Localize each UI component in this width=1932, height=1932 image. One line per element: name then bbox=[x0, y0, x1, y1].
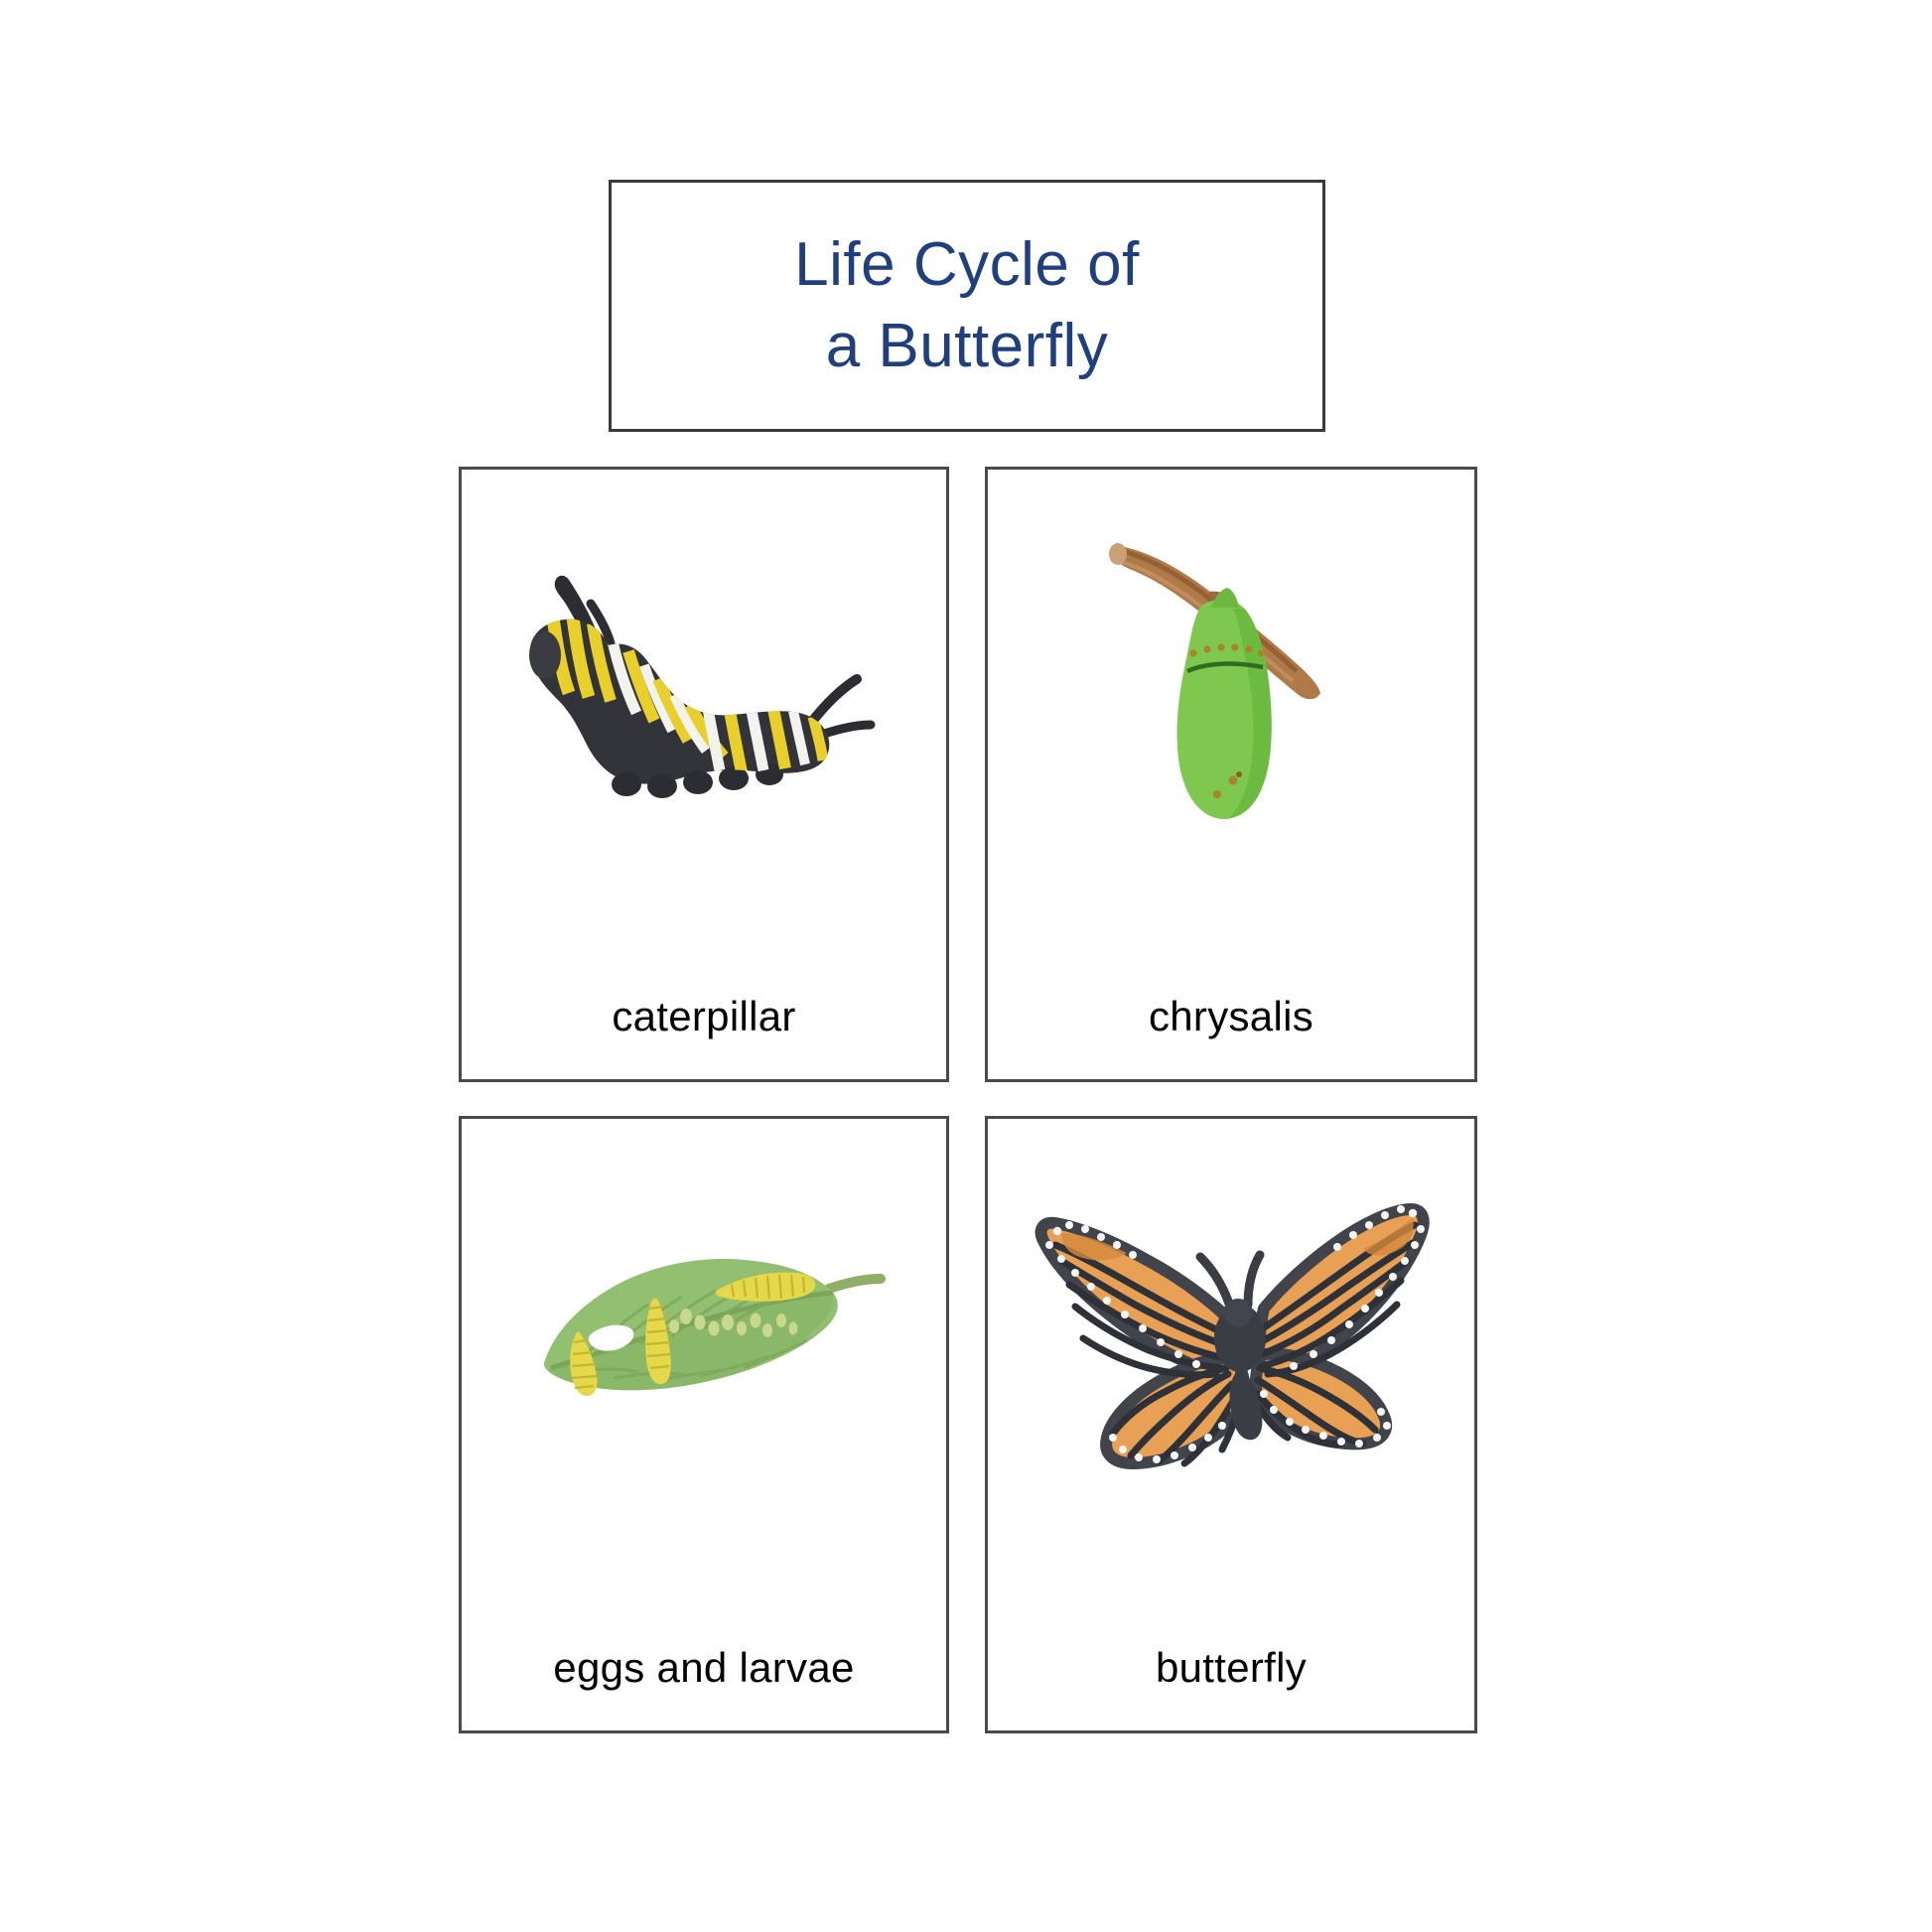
butterfly-figure bbox=[988, 1119, 1474, 1546]
leaf-with-eggs-icon bbox=[505, 1203, 902, 1461]
chrysalis-figure bbox=[988, 470, 1474, 897]
title-line-2: a Butterfly bbox=[826, 306, 1109, 387]
eggs-larvae-figure bbox=[462, 1119, 946, 1546]
butterfly-head bbox=[1223, 1299, 1253, 1326]
card-label-eggs-and-larvae: eggs and larvae bbox=[462, 1647, 946, 1689]
card-eggs-and-larvae[interactable]: eggs and larvae bbox=[459, 1116, 949, 1733]
leaf-stem bbox=[829, 1279, 881, 1289]
monarch-butterfly-icon bbox=[1018, 1183, 1445, 1481]
chrysalis-icon bbox=[1082, 494, 1380, 872]
caterpillar-rear-tentacle-1 bbox=[811, 679, 857, 723]
twig-end bbox=[1109, 543, 1127, 565]
right-antenna bbox=[1248, 1255, 1260, 1305]
caterpillar-figure bbox=[462, 470, 946, 897]
card-chrysalis[interactable]: chrysalis bbox=[985, 467, 1477, 1082]
card-label-butterfly: butterfly bbox=[988, 1647, 1474, 1689]
card-butterfly[interactable]: butterfly bbox=[985, 1116, 1477, 1733]
title-line-1: Life Cycle of bbox=[794, 224, 1140, 306]
life-cycle-poster: Life Cycle of a Butterfly bbox=[0, 0, 1932, 1932]
card-label-caterpillar: caterpillar bbox=[462, 996, 946, 1037]
title-card: Life Cycle of a Butterfly bbox=[609, 180, 1325, 432]
caterpillar-icon bbox=[495, 534, 912, 832]
caterpillar-head bbox=[529, 631, 561, 679]
card-label-chrysalis: chrysalis bbox=[988, 996, 1474, 1037]
card-caterpillar[interactable]: caterpillar bbox=[459, 467, 949, 1082]
